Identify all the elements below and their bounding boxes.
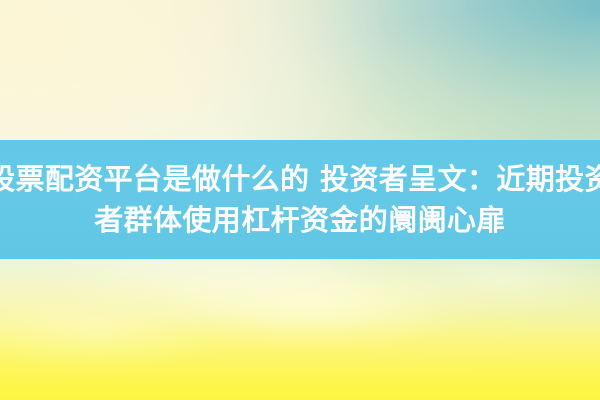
headline-band: 股票配资平台是做什么的 投资者呈文：近期投资 者群体使用杠杆资金的阛阓心扉 (0, 140, 600, 259)
banner-image: 股票配资平台是做什么的 投资者呈文：近期投资 者群体使用杠杆资金的阛阓心扉 (0, 0, 600, 400)
headline-line-2: 者群体使用杠杆资金的阛阓心扉 (94, 200, 506, 241)
headline-line-1: 股票配资平台是做什么的 投资者呈文：近期投资 (0, 159, 600, 200)
